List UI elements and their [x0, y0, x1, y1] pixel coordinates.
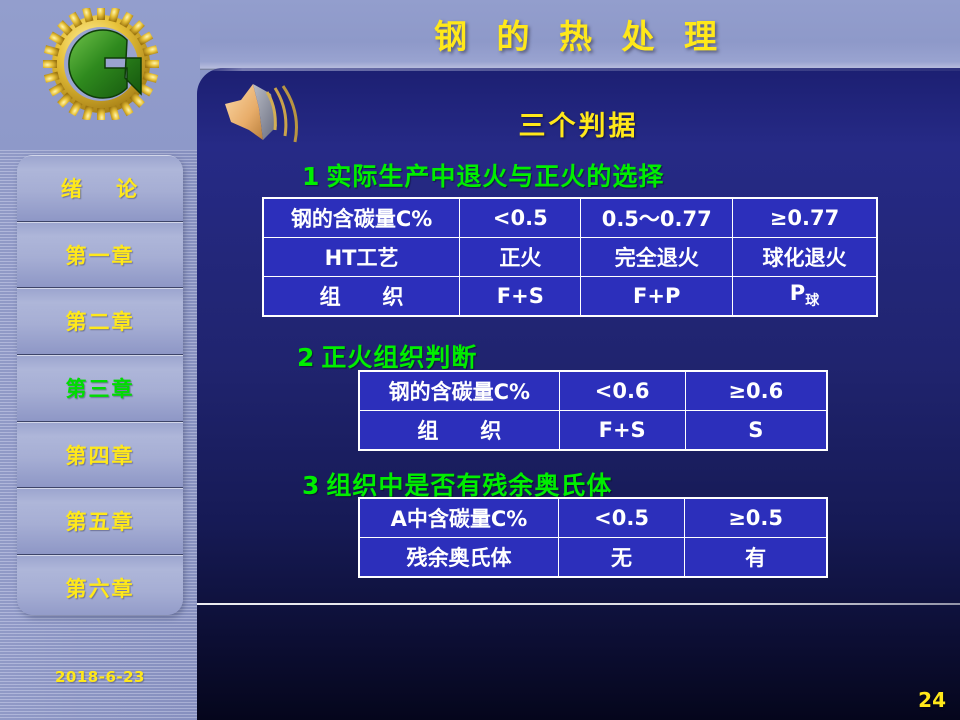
cell: A中含碳量C% — [359, 498, 558, 538]
content-panel: 三个判据 1实际生产中退火与正火的选择 钢的含碳量C% <0.5 0.5～0.7… — [197, 68, 960, 720]
slide: 钢 的 热 处 理 — [0, 0, 960, 720]
cell: <0.5 — [460, 198, 581, 238]
cell: F+S — [559, 411, 685, 451]
cell: P球 — [732, 277, 877, 317]
cell: ≥0.5 — [685, 498, 827, 538]
table-row: 组 织 F+S F+P P球 — [263, 277, 877, 317]
section-1-heading: 1实际生产中退火与正火的选择 — [302, 157, 664, 193]
panel-top-highlight — [197, 68, 960, 71]
cell: F+S — [460, 277, 581, 317]
cell: 0.5～0.77 — [581, 198, 732, 238]
cell: 钢的含碳量C% — [263, 198, 460, 238]
sidebar-item-intro[interactable]: 绪 论 — [17, 155, 183, 222]
cell: 完全退火 — [581, 238, 732, 277]
sidebar-item-chapter-6[interactable]: 第六章 — [17, 555, 183, 615]
cell: HT工艺 — [263, 238, 460, 277]
table-row: 钢的含碳量C% <0.6 ≥0.6 — [359, 371, 827, 411]
sidebar-nav: 绪 论 第一章 第二章 第三章 第四章 第五章 第六章 — [17, 155, 183, 615]
section-3-number: 3 — [302, 471, 320, 500]
cell: 有 — [685, 538, 827, 578]
sidebar-item-chapter-2[interactable]: 第二章 — [17, 288, 183, 355]
cell: 残余奥氏体 — [359, 538, 558, 578]
table-row: A中含碳量C% <0.5 ≥0.5 — [359, 498, 827, 538]
section-1-number: 1 — [302, 162, 320, 191]
table-normalizing-microstructure: 钢的含碳量C% <0.6 ≥0.6 组 织 F+S S — [358, 370, 828, 451]
cell: 钢的含碳量C% — [359, 371, 559, 411]
page-title: 钢 的 热 处 理 — [200, 6, 960, 62]
sidebar-item-chapter-4[interactable]: 第四章 — [17, 422, 183, 489]
cell: S — [685, 411, 827, 451]
section-1-title: 实际生产中退火与正火的选择 — [326, 162, 664, 191]
cell: 无 — [558, 538, 684, 578]
cell: 组 织 — [263, 277, 460, 317]
table-retained-austenite: A中含碳量C% <0.5 ≥0.5 残余奥氏体 无 有 — [358, 497, 828, 578]
slide-subtitle: 三个判据 — [197, 104, 960, 143]
sidebar-item-chapter-1[interactable]: 第一章 — [17, 222, 183, 289]
sidebar-item-chapter-3[interactable]: 第三章 — [17, 355, 183, 422]
cell: ≥0.77 — [732, 198, 877, 238]
table-row: 组 织 F+S S — [359, 411, 827, 451]
table-row: 残余奥氏体 无 有 — [359, 538, 827, 578]
cell: <0.5 — [558, 498, 684, 538]
sidebar-item-chapter-5[interactable]: 第五章 — [17, 488, 183, 555]
section-3-title: 组织中是否有残余奥氏体 — [326, 471, 612, 500]
table-annealing-normalizing-selection: 钢的含碳量C% <0.5 0.5～0.77 ≥0.77 HT工艺 正火 完全退火… — [262, 197, 878, 317]
section-2-number: 2 — [297, 343, 315, 372]
page-number: 24 — [918, 688, 946, 712]
cell: <0.6 — [559, 371, 685, 411]
cell: 球化退火 — [732, 238, 877, 277]
section-2-title: 正火组织判断 — [321, 343, 477, 372]
cell: 组 织 — [359, 411, 559, 451]
table-row: 钢的含碳量C% <0.5 0.5～0.77 ≥0.77 — [263, 198, 877, 238]
slide-date: 2018-6-23 — [17, 668, 183, 686]
cell: ≥0.6 — [685, 371, 827, 411]
section-2-heading: 2正火组织判断 — [297, 338, 477, 374]
cell: F+P — [581, 277, 732, 317]
table-row: HT工艺 正火 完全退火 球化退火 — [263, 238, 877, 277]
cell: 正火 — [460, 238, 581, 277]
gear-g-logo-icon — [38, 8, 164, 120]
panel-bottom-rule — [197, 603, 960, 605]
